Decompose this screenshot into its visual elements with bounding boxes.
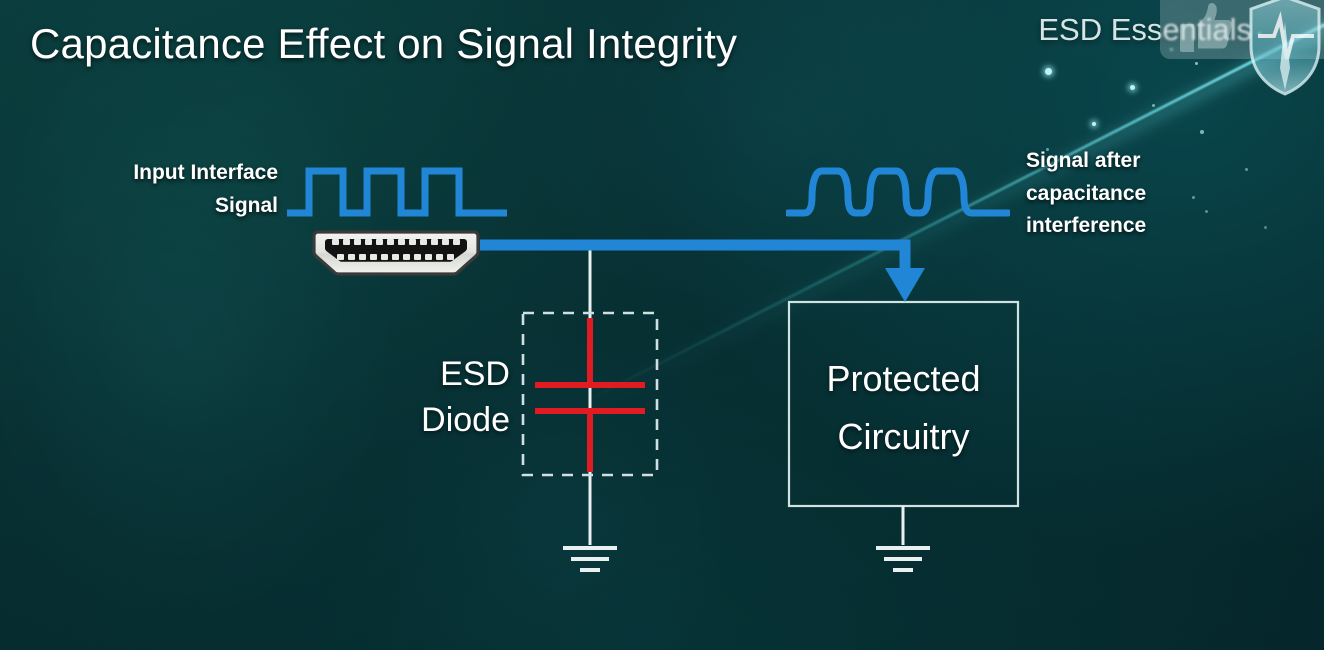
protected-circuitry-label: Protected Circuitry <box>789 350 1018 465</box>
esd-diode-label-line2: Diode <box>360 398 510 444</box>
circuit-diagram <box>0 0 1324 650</box>
signal-arrowhead <box>885 268 925 302</box>
slide-canvas: Capacitance Effect on Signal Integrity E… <box>0 0 1324 650</box>
esd-diode-label: ESD Diode <box>360 352 510 444</box>
signal-trace <box>480 245 905 272</box>
protected-circuitry-label-line2: Circuitry <box>789 408 1018 466</box>
protected-circuitry-label-line1: Protected <box>789 350 1018 408</box>
ground-symbol-protected <box>876 548 930 570</box>
ground-symbol-esd <box>563 548 617 570</box>
esd-diode-label-line1: ESD <box>360 352 510 398</box>
